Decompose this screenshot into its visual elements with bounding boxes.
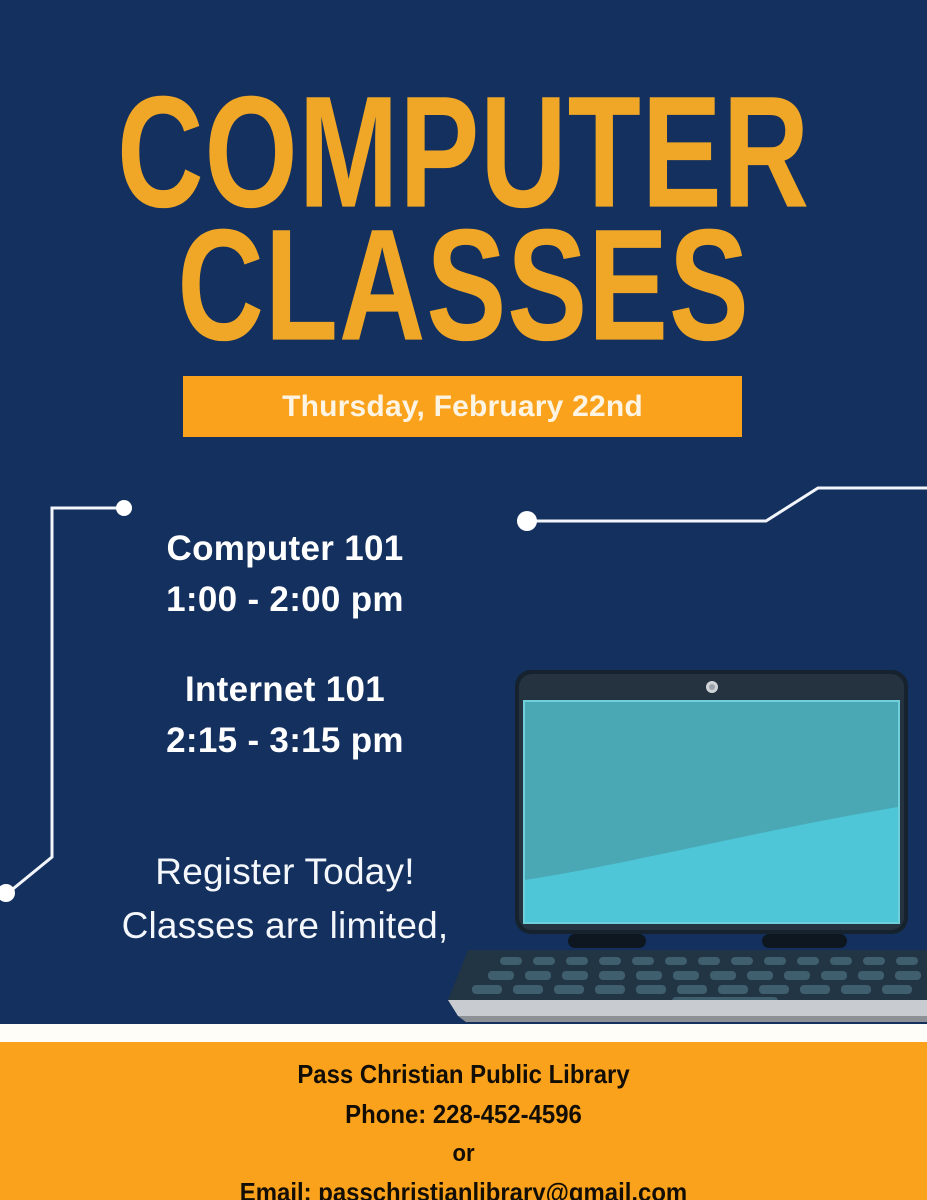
footer-email[interactable]: Email: passchristianlibrary@gmail.com: [37, 1172, 890, 1200]
laptop-hinge-left: [568, 934, 646, 948]
class-name: Computer 101: [60, 528, 510, 571]
class-time: 1:00 - 2:00 pm: [60, 579, 510, 622]
screen-content: [525, 702, 898, 922]
keyboard-keys-row-3: [472, 985, 912, 994]
class-block-computer-101: Computer 101 1:00 - 2:00 pm: [60, 528, 510, 621]
date-banner-text: Thursday, February 22nd: [282, 390, 643, 424]
poster: COMPUTER CLASSES Thursday, February 22nd…: [0, 0, 927, 1200]
footer-contact-band: Pass Christian Public Library Phone: 228…: [0, 1042, 927, 1200]
laptop-hinge-right: [762, 934, 847, 948]
laptop-base: [448, 1000, 927, 1016]
footer-conjunction: or: [37, 1135, 890, 1172]
footer-contact-text: Pass Christian Public Library Phone: 228…: [0, 1054, 927, 1200]
page-title-line-2: CLASSES: [93, 205, 835, 364]
footer-divider: [0, 1024, 927, 1042]
footer-phone[interactable]: Phone: 228-452-4596: [37, 1094, 890, 1134]
laptop-illustration: [440, 660, 927, 1024]
laptop-base-shadow: [458, 1016, 927, 1022]
footer-organization: Pass Christian Public Library: [37, 1054, 890, 1094]
webcam-lens-icon: [709, 684, 715, 690]
date-banner: Thursday, February 22nd: [183, 376, 742, 437]
